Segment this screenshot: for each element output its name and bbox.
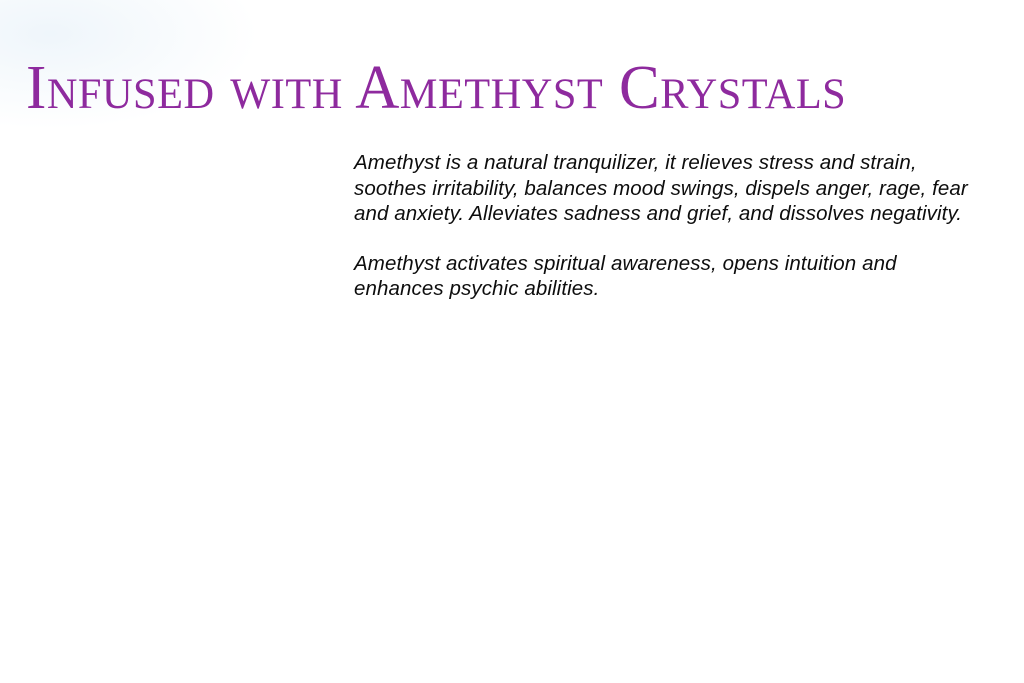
chip-reflection	[286, 404, 334, 421]
chip-reflection	[244, 472, 296, 492]
amethyst-chip	[573, 372, 627, 418]
chip-reflection	[326, 638, 396, 663]
amethyst-chip	[10, 473, 96, 550]
amethyst-chip	[76, 459, 147, 527]
crystal-tip-sheen	[185, 252, 280, 320]
chip-reflection	[644, 594, 756, 619]
amethyst-chip	[279, 443, 350, 507]
chip-reflection	[922, 516, 982, 537]
amethyst-chip	[325, 464, 388, 520]
chip-reflection	[572, 406, 628, 427]
amethyst-chip	[298, 408, 348, 449]
amethyst-chip	[446, 471, 508, 523]
amethyst-chip	[327, 596, 395, 650]
amethyst-chip	[724, 413, 780, 461]
chip-reflection	[446, 510, 508, 533]
amethyst-chip	[853, 416, 898, 454]
chip-reflection	[536, 428, 596, 450]
amethyst-chip	[180, 409, 241, 466]
chip-reflection	[544, 520, 606, 543]
amethyst-chip	[0, 589, 65, 650]
amethyst-chip	[765, 397, 826, 452]
chip-reflection	[816, 642, 896, 672]
chip-reflection	[608, 422, 660, 441]
chip-reflection	[184, 496, 242, 519]
chip-reflection	[610, 576, 672, 600]
amethyst-chip	[144, 482, 210, 542]
chip-reflection	[766, 436, 824, 458]
chip-reflection	[244, 512, 304, 535]
chip-reflection	[696, 410, 750, 430]
chip-reflection	[56, 562, 122, 587]
chip-reflection	[854, 430, 908, 449]
amethyst-chip	[43, 446, 114, 508]
chip-reflection	[682, 466, 742, 489]
amethyst-chip	[632, 367, 690, 416]
amethyst-chip	[271, 571, 339, 631]
crystal-body	[0, 163, 283, 424]
chip-reflection	[426, 470, 482, 491]
chip-reflection	[632, 402, 690, 423]
amethyst-chip	[854, 398, 908, 445]
amethyst-promo-banner: Infused with Amethyst Crystals Amethyst …	[0, 0, 1024, 683]
amethyst-chip	[243, 471, 305, 527]
chip-reflection	[506, 632, 568, 655]
chip-reflection	[496, 530, 552, 551]
chip-reflection	[146, 634, 202, 655]
amethyst-chip	[609, 534, 672, 590]
amethyst-chip	[412, 401, 459, 443]
amethyst-chip	[225, 435, 288, 488]
chip-reflection	[0, 636, 64, 662]
amethyst-chip	[199, 506, 273, 572]
chip-reflection	[596, 498, 654, 520]
chip-reflection	[272, 616, 338, 641]
amethyst-chip	[504, 590, 569, 648]
crystal-facet-violet	[0, 272, 118, 390]
chip-reflection	[58, 426, 106, 443]
chip-reflection	[282, 490, 348, 515]
chip-reflection	[360, 472, 418, 494]
chip-reflection	[724, 448, 780, 469]
chip-reflection	[496, 460, 550, 481]
amethyst-chip	[732, 366, 785, 413]
amethyst-chip	[388, 464, 456, 524]
chip-reflection	[80, 508, 144, 533]
amethyst-chip	[834, 392, 879, 430]
amethyst-chip	[640, 442, 699, 496]
crystal-facet-highlight	[22, 209, 191, 333]
chip-reflection	[146, 526, 208, 550]
amethyst-chip	[498, 497, 551, 541]
amethyst-chip	[148, 601, 201, 645]
chip-reflection	[642, 480, 698, 501]
crystal-edge-line	[0, 215, 177, 221]
white-surface	[0, 330, 1024, 683]
chip-reflection	[0, 578, 66, 604]
chip-reflection	[390, 508, 454, 532]
chip-reflection	[556, 480, 620, 504]
amethyst-chip	[698, 379, 749, 421]
amethyst-chip	[803, 416, 855, 459]
chip-reflection	[166, 586, 226, 609]
chip-reflection	[130, 492, 198, 518]
amethyst-chip	[558, 441, 618, 491]
crystal-facet-pale	[115, 236, 275, 342]
chip-reflection	[106, 552, 178, 580]
amethyst-chip	[595, 460, 654, 512]
amethyst-chip	[921, 478, 983, 533]
paragraph-benefits: Amethyst is a natural tranquilizer, it r…	[354, 150, 968, 227]
paragraph-spiritual: Amethyst activates spiritual awareness, …	[354, 251, 968, 302]
chip-reflection	[234, 416, 284, 434]
amethyst-chip	[646, 551, 754, 608]
amethyst-chip	[93, 427, 150, 474]
chip-reflection	[802, 448, 856, 468]
chip-reflection	[832, 420, 882, 439]
crystal-shadow	[0, 352, 260, 398]
chip-reflection	[852, 442, 900, 459]
chip-reflection	[326, 506, 388, 530]
amethyst-chip	[243, 437, 297, 487]
chip-reflection	[182, 448, 238, 469]
amethyst-chip	[359, 434, 418, 486]
body-copy: Amethyst is a natural tranquilizer, it r…	[354, 150, 968, 302]
chip-reflection	[876, 476, 928, 494]
chip-reflection	[732, 398, 784, 417]
chip-reflection	[14, 530, 92, 559]
chip-reflection	[466, 430, 512, 445]
amethyst-chip	[427, 436, 481, 482]
amethyst-chip	[552, 583, 621, 639]
amethyst-chip	[0, 530, 67, 593]
chip-reflection	[44, 494, 114, 522]
chip-reflection	[202, 554, 270, 579]
chip-reflection	[224, 476, 288, 500]
chip-reflection	[92, 462, 152, 484]
amethyst-chip	[535, 389, 597, 443]
amethyst-chip	[128, 444, 200, 508]
amethyst-chip	[208, 584, 272, 642]
amethyst-chip	[877, 447, 927, 489]
amethyst-chip	[102, 499, 181, 572]
amethyst-chip	[792, 548, 864, 612]
amethyst-chip	[2, 424, 69, 481]
chip-reflection	[296, 438, 350, 458]
amethyst-chip	[168, 549, 224, 596]
chip-reflection	[210, 626, 270, 649]
dust-speck	[706, 606, 710, 611]
amethyst-chip	[287, 378, 333, 417]
amethyst-chip	[607, 388, 661, 438]
amethyst-chip	[185, 459, 240, 508]
amethyst-chip	[498, 427, 549, 471]
page-title: Infused with Amethyst Crystals	[26, 57, 972, 119]
amethyst-chip	[56, 518, 122, 575]
amethyst-point-crystal	[0, 163, 283, 424]
amethyst-chip	[816, 590, 896, 656]
chip-reflection	[794, 596, 862, 622]
chip-reflection	[552, 626, 622, 651]
amethyst-chip	[542, 477, 608, 537]
amethyst-chip	[233, 385, 284, 431]
amethyst-chip	[682, 427, 742, 479]
chip-reflection	[2, 466, 68, 490]
amethyst-chip	[467, 405, 512, 443]
amethyst-chip	[59, 400, 104, 438]
chip-reflection	[412, 430, 460, 448]
